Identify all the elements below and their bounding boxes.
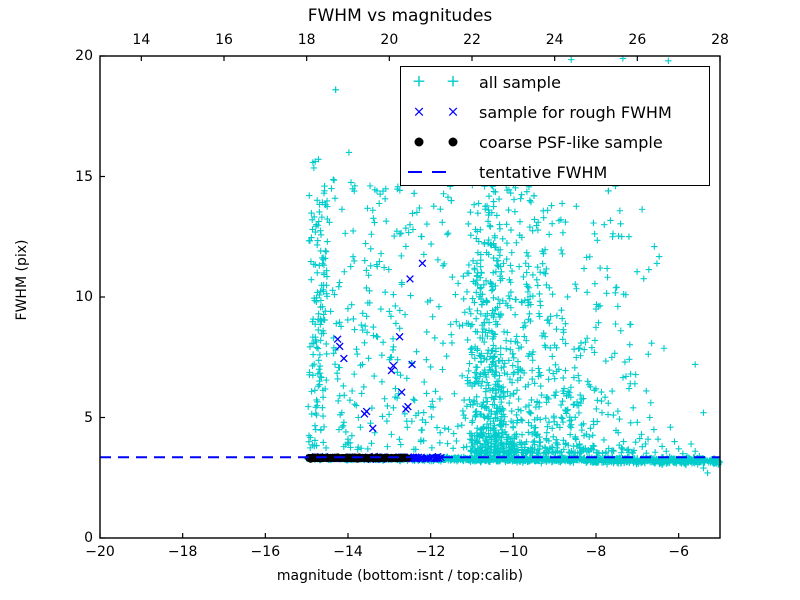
data-point bbox=[343, 429, 349, 435]
data-point bbox=[353, 402, 359, 408]
data-point bbox=[332, 87, 338, 93]
data-point bbox=[553, 326, 559, 332]
y-tick-label: 20 bbox=[75, 48, 93, 64]
data-point bbox=[351, 326, 357, 332]
data-point bbox=[597, 303, 603, 309]
data-point bbox=[514, 333, 520, 339]
data-point bbox=[511, 369, 517, 375]
data-point bbox=[609, 234, 615, 240]
data-point bbox=[398, 253, 404, 259]
data-point bbox=[615, 303, 621, 309]
data-point bbox=[603, 290, 609, 296]
data-point bbox=[448, 331, 454, 337]
data-point bbox=[474, 308, 480, 314]
data-point bbox=[373, 333, 379, 339]
data-point bbox=[342, 230, 348, 236]
legend-entry-tentative-fwhm: tentative FWHM bbox=[401, 157, 711, 187]
data-point bbox=[464, 270, 470, 276]
data-point bbox=[546, 231, 552, 237]
data-point bbox=[667, 424, 673, 430]
data-point bbox=[382, 196, 388, 202]
data-point bbox=[620, 374, 626, 380]
data-point bbox=[323, 351, 329, 357]
data-point bbox=[461, 397, 467, 403]
data-point bbox=[535, 227, 541, 233]
data-point bbox=[397, 372, 403, 378]
data-point bbox=[437, 206, 443, 212]
data-point bbox=[376, 200, 382, 206]
data-point bbox=[503, 337, 509, 343]
data-point bbox=[397, 231, 403, 237]
data-point bbox=[424, 329, 430, 335]
data-point bbox=[568, 422, 574, 428]
data-point bbox=[434, 424, 440, 430]
data-point bbox=[564, 294, 570, 300]
data-point bbox=[498, 269, 504, 275]
data-point bbox=[321, 183, 327, 189]
legend-marker-rough-fwhm: × × bbox=[401, 97, 479, 127]
data-point bbox=[558, 307, 564, 313]
data-point bbox=[368, 440, 374, 446]
x-tick-label-bottom: −10 bbox=[499, 544, 529, 560]
legend-label-psf-like: coarse PSF-like sample bbox=[479, 133, 663, 152]
data-point bbox=[612, 321, 618, 327]
data-point bbox=[590, 220, 596, 226]
data-point bbox=[504, 329, 510, 335]
data-point bbox=[462, 309, 468, 315]
data-point bbox=[647, 414, 653, 420]
legend-label-all-sample: all sample bbox=[479, 73, 561, 92]
data-point bbox=[428, 241, 434, 247]
data-point bbox=[634, 419, 640, 425]
data-point bbox=[421, 251, 427, 257]
data-point bbox=[581, 265, 587, 271]
x-tick-label-bottom: −12 bbox=[416, 544, 446, 560]
data-point bbox=[444, 231, 450, 237]
data-point bbox=[314, 344, 320, 350]
data-point bbox=[367, 263, 373, 269]
x-tick-label-top: 18 bbox=[298, 32, 316, 48]
data-point bbox=[544, 430, 550, 436]
data-point bbox=[334, 336, 341, 343]
data-point bbox=[568, 384, 574, 390]
data-point bbox=[663, 448, 669, 454]
data-point bbox=[407, 222, 413, 228]
data-point bbox=[530, 272, 536, 278]
data-point bbox=[656, 253, 662, 259]
data-point bbox=[525, 419, 531, 425]
data-point bbox=[472, 355, 478, 361]
data-point bbox=[410, 396, 416, 402]
data-point bbox=[461, 412, 467, 418]
x-axis-label: magnitude (bottom:isnt / top:calib) bbox=[0, 568, 800, 584]
data-point bbox=[388, 313, 394, 319]
data-point bbox=[392, 385, 398, 391]
data-point bbox=[479, 329, 485, 335]
data-point bbox=[349, 388, 355, 394]
data-point bbox=[410, 226, 416, 232]
data-point bbox=[577, 392, 583, 398]
data-point bbox=[567, 423, 573, 429]
legend-marker-psf-like bbox=[401, 127, 479, 157]
data-point bbox=[485, 347, 491, 353]
data-point bbox=[431, 203, 437, 209]
data-point bbox=[627, 342, 633, 348]
data-point bbox=[531, 193, 537, 199]
data-point bbox=[475, 210, 481, 216]
data-point bbox=[559, 398, 565, 404]
data-point bbox=[411, 397, 417, 403]
data-point bbox=[340, 383, 346, 389]
data-point bbox=[573, 286, 579, 292]
data-point bbox=[411, 190, 417, 196]
data-point bbox=[594, 237, 600, 243]
data-point bbox=[535, 365, 541, 371]
data-point bbox=[559, 415, 565, 421]
data-point bbox=[317, 352, 323, 358]
data-point bbox=[473, 364, 479, 370]
data-point bbox=[571, 346, 577, 352]
data-point bbox=[318, 232, 324, 238]
data-point bbox=[478, 269, 484, 275]
data-point bbox=[429, 314, 435, 320]
data-point bbox=[604, 274, 610, 280]
data-point bbox=[549, 425, 555, 431]
data-point bbox=[314, 242, 320, 248]
data-point bbox=[318, 374, 324, 380]
data-point bbox=[584, 289, 590, 295]
dot-icon bbox=[415, 138, 424, 147]
data-point bbox=[369, 425, 376, 432]
data-point bbox=[519, 431, 525, 437]
data-point bbox=[505, 207, 511, 213]
data-point bbox=[525, 253, 531, 259]
data-point bbox=[460, 296, 466, 302]
data-point bbox=[675, 446, 681, 452]
data-point bbox=[518, 299, 524, 305]
data-point bbox=[324, 238, 330, 244]
data-point bbox=[597, 265, 603, 271]
data-point bbox=[394, 369, 400, 375]
data-point bbox=[652, 449, 658, 455]
data-point bbox=[594, 397, 600, 403]
data-point bbox=[648, 340, 654, 346]
data-point bbox=[393, 320, 399, 326]
data-point bbox=[491, 188, 497, 194]
legend-marker-all-sample: + + bbox=[401, 67, 479, 97]
data-point bbox=[496, 221, 502, 227]
data-point bbox=[515, 358, 521, 364]
data-point bbox=[546, 367, 552, 373]
data-point bbox=[423, 356, 429, 362]
data-point bbox=[310, 372, 316, 378]
data-point bbox=[383, 218, 389, 224]
data-point bbox=[466, 360, 472, 366]
data-point bbox=[353, 346, 359, 352]
data-point bbox=[379, 379, 385, 385]
data-point bbox=[370, 332, 376, 338]
data-point bbox=[632, 439, 638, 445]
data-point bbox=[617, 221, 623, 227]
data-point bbox=[613, 284, 619, 290]
data-point bbox=[560, 336, 566, 342]
data-point bbox=[334, 376, 340, 382]
data-point bbox=[559, 315, 565, 321]
data-point bbox=[332, 361, 338, 367]
data-point bbox=[360, 310, 366, 316]
data-point bbox=[361, 384, 367, 390]
data-point bbox=[612, 290, 618, 296]
data-point bbox=[504, 240, 510, 246]
data-point bbox=[627, 321, 633, 327]
data-point bbox=[423, 390, 429, 396]
data-point bbox=[544, 207, 550, 213]
data-point bbox=[460, 273, 466, 279]
data-point bbox=[336, 343, 343, 350]
legend-entry-psf-like: coarse PSF-like sample bbox=[401, 127, 711, 157]
data-point bbox=[386, 411, 392, 417]
data-point bbox=[661, 345, 667, 351]
data-point bbox=[651, 243, 657, 249]
data-point bbox=[478, 257, 484, 263]
data-point bbox=[543, 415, 549, 421]
data-point bbox=[619, 233, 625, 239]
data-point bbox=[536, 291, 542, 297]
data-point bbox=[523, 260, 529, 266]
data-point bbox=[612, 350, 618, 356]
data-point bbox=[526, 311, 532, 317]
data-point bbox=[418, 438, 424, 444]
y-tick-label: 15 bbox=[75, 169, 93, 185]
x-tick-label-bottom: −14 bbox=[333, 544, 363, 560]
data-point bbox=[583, 254, 589, 260]
x-tick-label-top: 16 bbox=[215, 32, 233, 48]
data-point bbox=[419, 233, 425, 239]
data-point bbox=[549, 220, 555, 226]
data-point bbox=[551, 376, 557, 382]
data-point bbox=[397, 307, 403, 313]
data-point bbox=[363, 313, 369, 319]
data-point bbox=[587, 425, 593, 431]
data-point bbox=[405, 403, 412, 410]
legend-label-rough-fwhm: sample for rough FWHM bbox=[479, 103, 672, 122]
data-point bbox=[490, 198, 496, 204]
data-point bbox=[386, 308, 392, 314]
data-point bbox=[605, 400, 611, 406]
data-point bbox=[671, 438, 677, 444]
data-point bbox=[350, 316, 356, 322]
data-point bbox=[460, 444, 466, 450]
data-point bbox=[427, 364, 433, 370]
data-point bbox=[503, 221, 509, 227]
data-point bbox=[527, 197, 533, 203]
data-point bbox=[598, 398, 604, 404]
data-point bbox=[451, 391, 457, 397]
data-point bbox=[513, 296, 519, 302]
legend-label-tentative-fwhm: tentative FWHM bbox=[479, 163, 607, 182]
data-point bbox=[533, 404, 539, 410]
data-point bbox=[404, 424, 410, 430]
data-point bbox=[529, 357, 535, 363]
data-point bbox=[601, 437, 607, 443]
data-point bbox=[436, 303, 442, 309]
data-point bbox=[320, 413, 326, 419]
data-point bbox=[489, 307, 495, 313]
data-point bbox=[551, 413, 557, 419]
data-point bbox=[577, 345, 583, 351]
data-point bbox=[437, 430, 443, 436]
data-point bbox=[358, 445, 364, 451]
data-point bbox=[607, 217, 613, 223]
data-point bbox=[540, 215, 546, 221]
data-point bbox=[659, 443, 665, 449]
data-point bbox=[320, 439, 326, 445]
data-point bbox=[445, 194, 451, 200]
data-point bbox=[513, 412, 519, 418]
data-point bbox=[336, 319, 342, 325]
data-point bbox=[347, 397, 353, 403]
data-point bbox=[602, 394, 608, 400]
data-point bbox=[337, 393, 343, 399]
data-point bbox=[692, 448, 698, 454]
data-point bbox=[605, 188, 611, 194]
data-point bbox=[396, 325, 402, 331]
x-tick-label-bottom: −6 bbox=[668, 544, 689, 560]
data-point bbox=[646, 266, 652, 272]
y-axis-label: FWHM (pix) bbox=[14, 200, 30, 360]
data-point bbox=[323, 249, 329, 255]
data-point bbox=[466, 306, 472, 312]
data-point bbox=[616, 416, 622, 422]
data-point bbox=[413, 348, 419, 354]
data-point bbox=[517, 219, 523, 225]
data-point bbox=[542, 246, 548, 252]
data-point bbox=[361, 340, 367, 346]
data-point bbox=[355, 414, 361, 420]
data-point bbox=[477, 227, 483, 233]
data-point bbox=[550, 434, 556, 440]
data-point bbox=[560, 230, 566, 236]
data-point bbox=[620, 438, 626, 444]
data-point bbox=[584, 335, 590, 341]
dashed-line-icon bbox=[408, 171, 422, 173]
data-point bbox=[313, 426, 319, 432]
data-point bbox=[590, 418, 596, 424]
data-point bbox=[345, 317, 351, 323]
data-point bbox=[634, 268, 640, 274]
data-point bbox=[645, 351, 651, 357]
data-point bbox=[384, 403, 390, 409]
data-point bbox=[700, 465, 706, 471]
legend-entry-rough-fwhm: × × sample for rough FWHM bbox=[401, 97, 711, 127]
data-point bbox=[542, 270, 548, 276]
data-point bbox=[582, 339, 588, 345]
data-point bbox=[339, 206, 345, 212]
data-point bbox=[437, 396, 443, 402]
data-point bbox=[648, 400, 654, 406]
data-point bbox=[464, 444, 470, 450]
data-point bbox=[419, 427, 425, 433]
data-point bbox=[347, 263, 353, 269]
data-point bbox=[498, 351, 504, 357]
data-point bbox=[688, 441, 694, 447]
data-point bbox=[362, 240, 368, 246]
data-point bbox=[390, 291, 396, 297]
data-point bbox=[578, 340, 584, 346]
data-point bbox=[328, 185, 334, 191]
data-point bbox=[336, 279, 342, 285]
data-point bbox=[543, 282, 549, 288]
data-point bbox=[428, 414, 434, 420]
data-point bbox=[312, 423, 318, 429]
data-point bbox=[370, 324, 376, 330]
data-point bbox=[615, 408, 621, 414]
data-point bbox=[362, 257, 368, 263]
data-point bbox=[585, 378, 591, 384]
data-point bbox=[535, 282, 541, 288]
data-point bbox=[562, 340, 568, 346]
data-point bbox=[522, 320, 528, 326]
x-tick-label-bottom: −20 bbox=[85, 544, 115, 560]
data-point bbox=[477, 263, 483, 269]
data-point bbox=[598, 389, 604, 395]
data-point bbox=[307, 238, 313, 244]
data-point bbox=[545, 376, 551, 382]
data-point bbox=[409, 418, 415, 424]
data-point bbox=[315, 383, 321, 389]
data-point bbox=[449, 274, 455, 280]
data-point bbox=[338, 323, 344, 329]
data-point bbox=[605, 411, 611, 417]
data-point bbox=[334, 370, 340, 376]
data-point bbox=[357, 424, 363, 430]
data-point bbox=[478, 358, 484, 364]
data-point bbox=[449, 340, 455, 346]
data-point bbox=[398, 389, 405, 396]
data-point bbox=[484, 398, 490, 404]
data-point bbox=[368, 246, 374, 252]
data-point bbox=[335, 364, 341, 370]
data-point bbox=[310, 351, 316, 357]
x-tick-label-top: 24 bbox=[546, 32, 564, 48]
data-point bbox=[572, 365, 578, 371]
data-point bbox=[609, 354, 615, 360]
data-point bbox=[639, 206, 645, 212]
data-point bbox=[531, 216, 537, 222]
y-tick-label: 5 bbox=[84, 410, 93, 426]
data-point bbox=[590, 432, 596, 438]
data-point bbox=[481, 241, 487, 247]
data-point bbox=[333, 320, 339, 326]
data-point bbox=[510, 362, 516, 368]
data-point bbox=[348, 301, 354, 307]
data-point bbox=[365, 446, 371, 452]
data-point bbox=[570, 402, 576, 408]
data-point bbox=[437, 440, 443, 446]
data-point bbox=[320, 394, 326, 400]
data-point bbox=[490, 295, 496, 301]
y-tick-label: 10 bbox=[75, 289, 93, 305]
data-point bbox=[450, 445, 456, 451]
data-point bbox=[351, 258, 357, 264]
data-point bbox=[317, 363, 323, 369]
data-point bbox=[404, 375, 410, 381]
data-point bbox=[336, 284, 342, 290]
data-point bbox=[312, 387, 318, 393]
data-point bbox=[465, 368, 471, 374]
data-point bbox=[562, 320, 568, 326]
data-point bbox=[392, 303, 398, 309]
